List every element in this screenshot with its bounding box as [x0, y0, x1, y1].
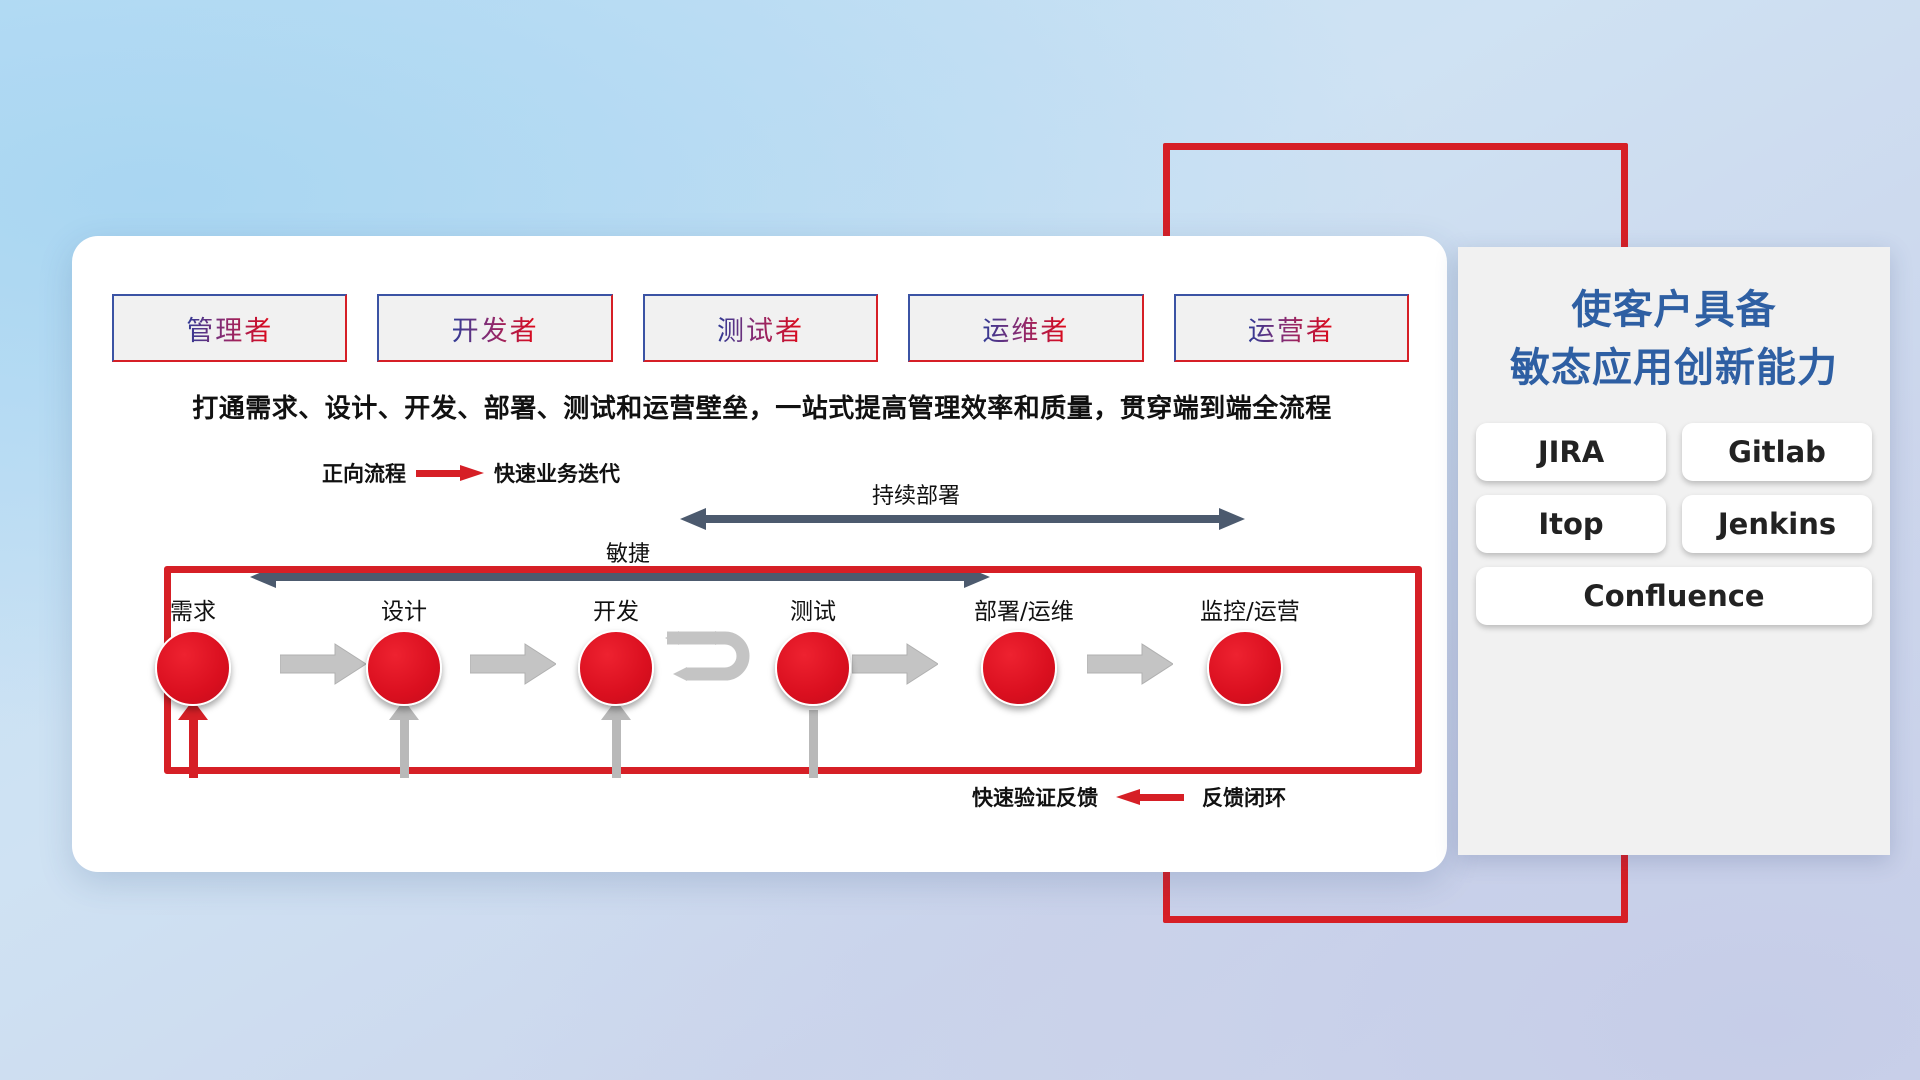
agile-label: 敏捷 — [606, 536, 650, 568]
pipeline-node-design[interactable]: 设计 — [359, 592, 449, 706]
pipeline-node-deploy-ops[interactable]: 部署/运维 — [974, 592, 1064, 706]
node-dot — [1207, 630, 1283, 706]
pipeline-node-requirement[interactable]: 需求 — [148, 592, 238, 706]
node-label: 测试 — [768, 592, 858, 626]
node-label: 设计 — [359, 592, 449, 626]
node-dot — [155, 630, 231, 706]
panel-title-line2: 敏态应用创新能力 — [1458, 339, 1890, 397]
feedback-stem — [189, 720, 198, 778]
connector-arrow-icon — [1087, 642, 1173, 686]
arrow-left-red-icon — [1116, 790, 1184, 804]
tool-chip-confluence[interactable]: Confluence — [1476, 567, 1872, 625]
diagram-stage: 管理者 开发者 测试者 运维者 运营者 打通需求、设计、开发、部署、测试和运营壁… — [0, 0, 1920, 1080]
pipeline-node-monitor-operations[interactable]: 监控/运营 — [1200, 592, 1290, 706]
role-box-developer[interactable]: 开发者 — [377, 294, 612, 362]
rework-loop-arrow-icon — [657, 630, 767, 696]
tool-chip-jira[interactable]: JIRA — [1476, 423, 1666, 481]
role-label: 运维者 — [982, 309, 1069, 348]
panel-title: 使客户具备 敏态应用创新能力 — [1458, 247, 1890, 397]
node-label: 需求 — [148, 592, 238, 626]
connector-arrow-icon — [280, 642, 366, 686]
legend-forward-flow: 正向流程 快速业务迭代 — [322, 458, 620, 488]
node-dot — [366, 630, 442, 706]
tool-chip-itop[interactable]: Itop — [1476, 495, 1666, 553]
tool-chip-gitlab[interactable]: Gitlab — [1682, 423, 1872, 481]
capability-panel: 使客户具备 敏态应用创新能力 JIRA Gitlab Itop Jenkins … — [1458, 247, 1890, 855]
role-label: 管理者 — [186, 309, 273, 348]
arrow-right-red-icon — [416, 466, 484, 480]
connector-arrow-icon — [852, 642, 938, 686]
feedback-stem — [400, 720, 409, 778]
role-label: 开发者 — [452, 309, 539, 348]
feedback-stem — [809, 710, 818, 778]
legend-forward-right-label: 快速业务迭代 — [494, 458, 620, 488]
devops-flow-card: 管理者 开发者 测试者 运维者 运营者 打通需求、设计、开发、部署、测试和运营壁… — [72, 236, 1447, 872]
role-label: 测试者 — [717, 309, 804, 348]
node-dot — [775, 630, 851, 706]
pipeline-node-testing[interactable]: 测试 — [768, 592, 858, 706]
pipeline-node-row: 需求 设计 开发 测试 部署/运维 监控/运营 — [112, 592, 1412, 742]
connector-arrow-icon — [470, 642, 556, 686]
node-label: 监控/运营 — [1200, 592, 1290, 626]
legend-feedback-right-label: 反馈闭环 — [1202, 782, 1286, 812]
role-box-row: 管理者 开发者 测试者 运维者 运营者 — [112, 294, 1409, 362]
panel-title-line1: 使客户具备 — [1572, 287, 1777, 333]
description-text: 打通需求、设计、开发、部署、测试和运营壁垒，一站式提高管理效率和质量，贯穿端到端… — [112, 388, 1412, 425]
node-dot — [981, 630, 1057, 706]
role-box-ops[interactable]: 运维者 — [908, 294, 1143, 362]
legend-forward-left-label: 正向流程 — [322, 458, 406, 488]
continuous-deployment-arrow-icon — [680, 508, 1245, 530]
continuous-deployment-label: 持续部署 — [872, 478, 960, 510]
role-box-tester[interactable]: 测试者 — [643, 294, 878, 362]
node-dot — [578, 630, 654, 706]
role-box-manager[interactable]: 管理者 — [112, 294, 347, 362]
role-box-operations[interactable]: 运营者 — [1174, 294, 1409, 362]
role-label: 运营者 — [1248, 309, 1335, 348]
tool-chip-list: JIRA Gitlab Itop Jenkins Confluence — [1476, 423, 1872, 625]
legend-feedback-left-label: 快速验证反馈 — [972, 782, 1098, 812]
tool-chip-jenkins[interactable]: Jenkins — [1682, 495, 1872, 553]
node-label: 部署/运维 — [974, 592, 1064, 626]
node-label: 开发 — [571, 592, 661, 626]
legend-feedback-loop: 快速验证反馈 反馈闭环 — [972, 782, 1286, 812]
feedback-stem — [612, 720, 621, 778]
pipeline-node-development[interactable]: 开发 — [571, 592, 661, 706]
